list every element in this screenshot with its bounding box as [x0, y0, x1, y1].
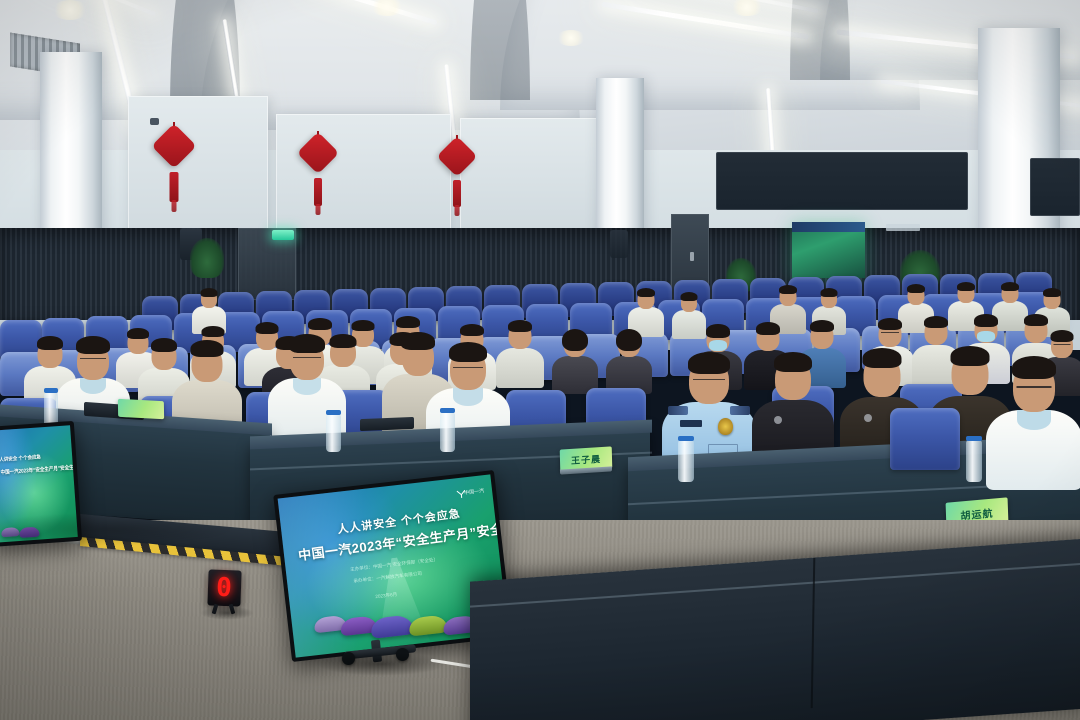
- seat[interactable]: [890, 408, 960, 470]
- plant-left: [190, 238, 224, 278]
- collar: [80, 378, 106, 394]
- epaulet-right: [730, 406, 750, 415]
- chinese-knot-2: [297, 136, 339, 224]
- acoustic-panel-right: [716, 152, 968, 210]
- downlight-4: [556, 30, 586, 46]
- exit-sign: [272, 230, 294, 240]
- rear-screen-header: [792, 222, 865, 232]
- countdown-display[interactable]: 0: [207, 569, 241, 606]
- countdown-digit: 0: [216, 573, 234, 604]
- collar: [1017, 410, 1051, 430]
- polo-logo-icon: [774, 416, 782, 424]
- attendee: [552, 330, 598, 392]
- rear-screen-caption: [886, 224, 920, 231]
- ceiling-recess-3: [790, 0, 850, 80]
- faw-logo-icon: [455, 485, 466, 496]
- epaulet-left: [668, 406, 688, 415]
- wall-panel-left: [128, 96, 268, 246]
- laptop[interactable]: [360, 417, 414, 431]
- uniform-placard-icon: [680, 420, 702, 427]
- downlight-1: [52, 0, 88, 20]
- wall-speaker-right: [610, 230, 628, 258]
- collar: [453, 388, 483, 406]
- water-bottle[interactable]: [966, 440, 982, 482]
- attendee-front-right: [986, 356, 1080, 486]
- collar: [293, 378, 321, 395]
- brand-logo: 中国一汽: [464, 487, 485, 496]
- chinese-knot-1: [152, 128, 196, 220]
- chinese-knot-3: [437, 140, 477, 226]
- door-handle-icon: [690, 252, 694, 261]
- timer-shadow: [200, 606, 254, 620]
- display-shadow: [316, 652, 446, 676]
- polo-logo-icon: [864, 414, 872, 422]
- attendee: [606, 330, 652, 392]
- nameplate-text: 王子晨: [571, 452, 601, 467]
- uniform-badge-icon: [718, 418, 733, 435]
- acoustic-panel-far-right: [1030, 158, 1080, 216]
- auditorium-photo: 王子晨 胡运航 人人讲安全 个个会应急 中国一汽2023年“安全生产月”安全生产…: [0, 0, 1080, 720]
- ceiling-recess-2: [470, 0, 530, 100]
- water-bottle[interactable]: [326, 414, 341, 452]
- wall-sensor-icon: [150, 118, 159, 125]
- water-bottle[interactable]: [678, 440, 694, 482]
- water-bottle[interactable]: [440, 412, 455, 452]
- nameplate-desk-mid: [118, 399, 164, 419]
